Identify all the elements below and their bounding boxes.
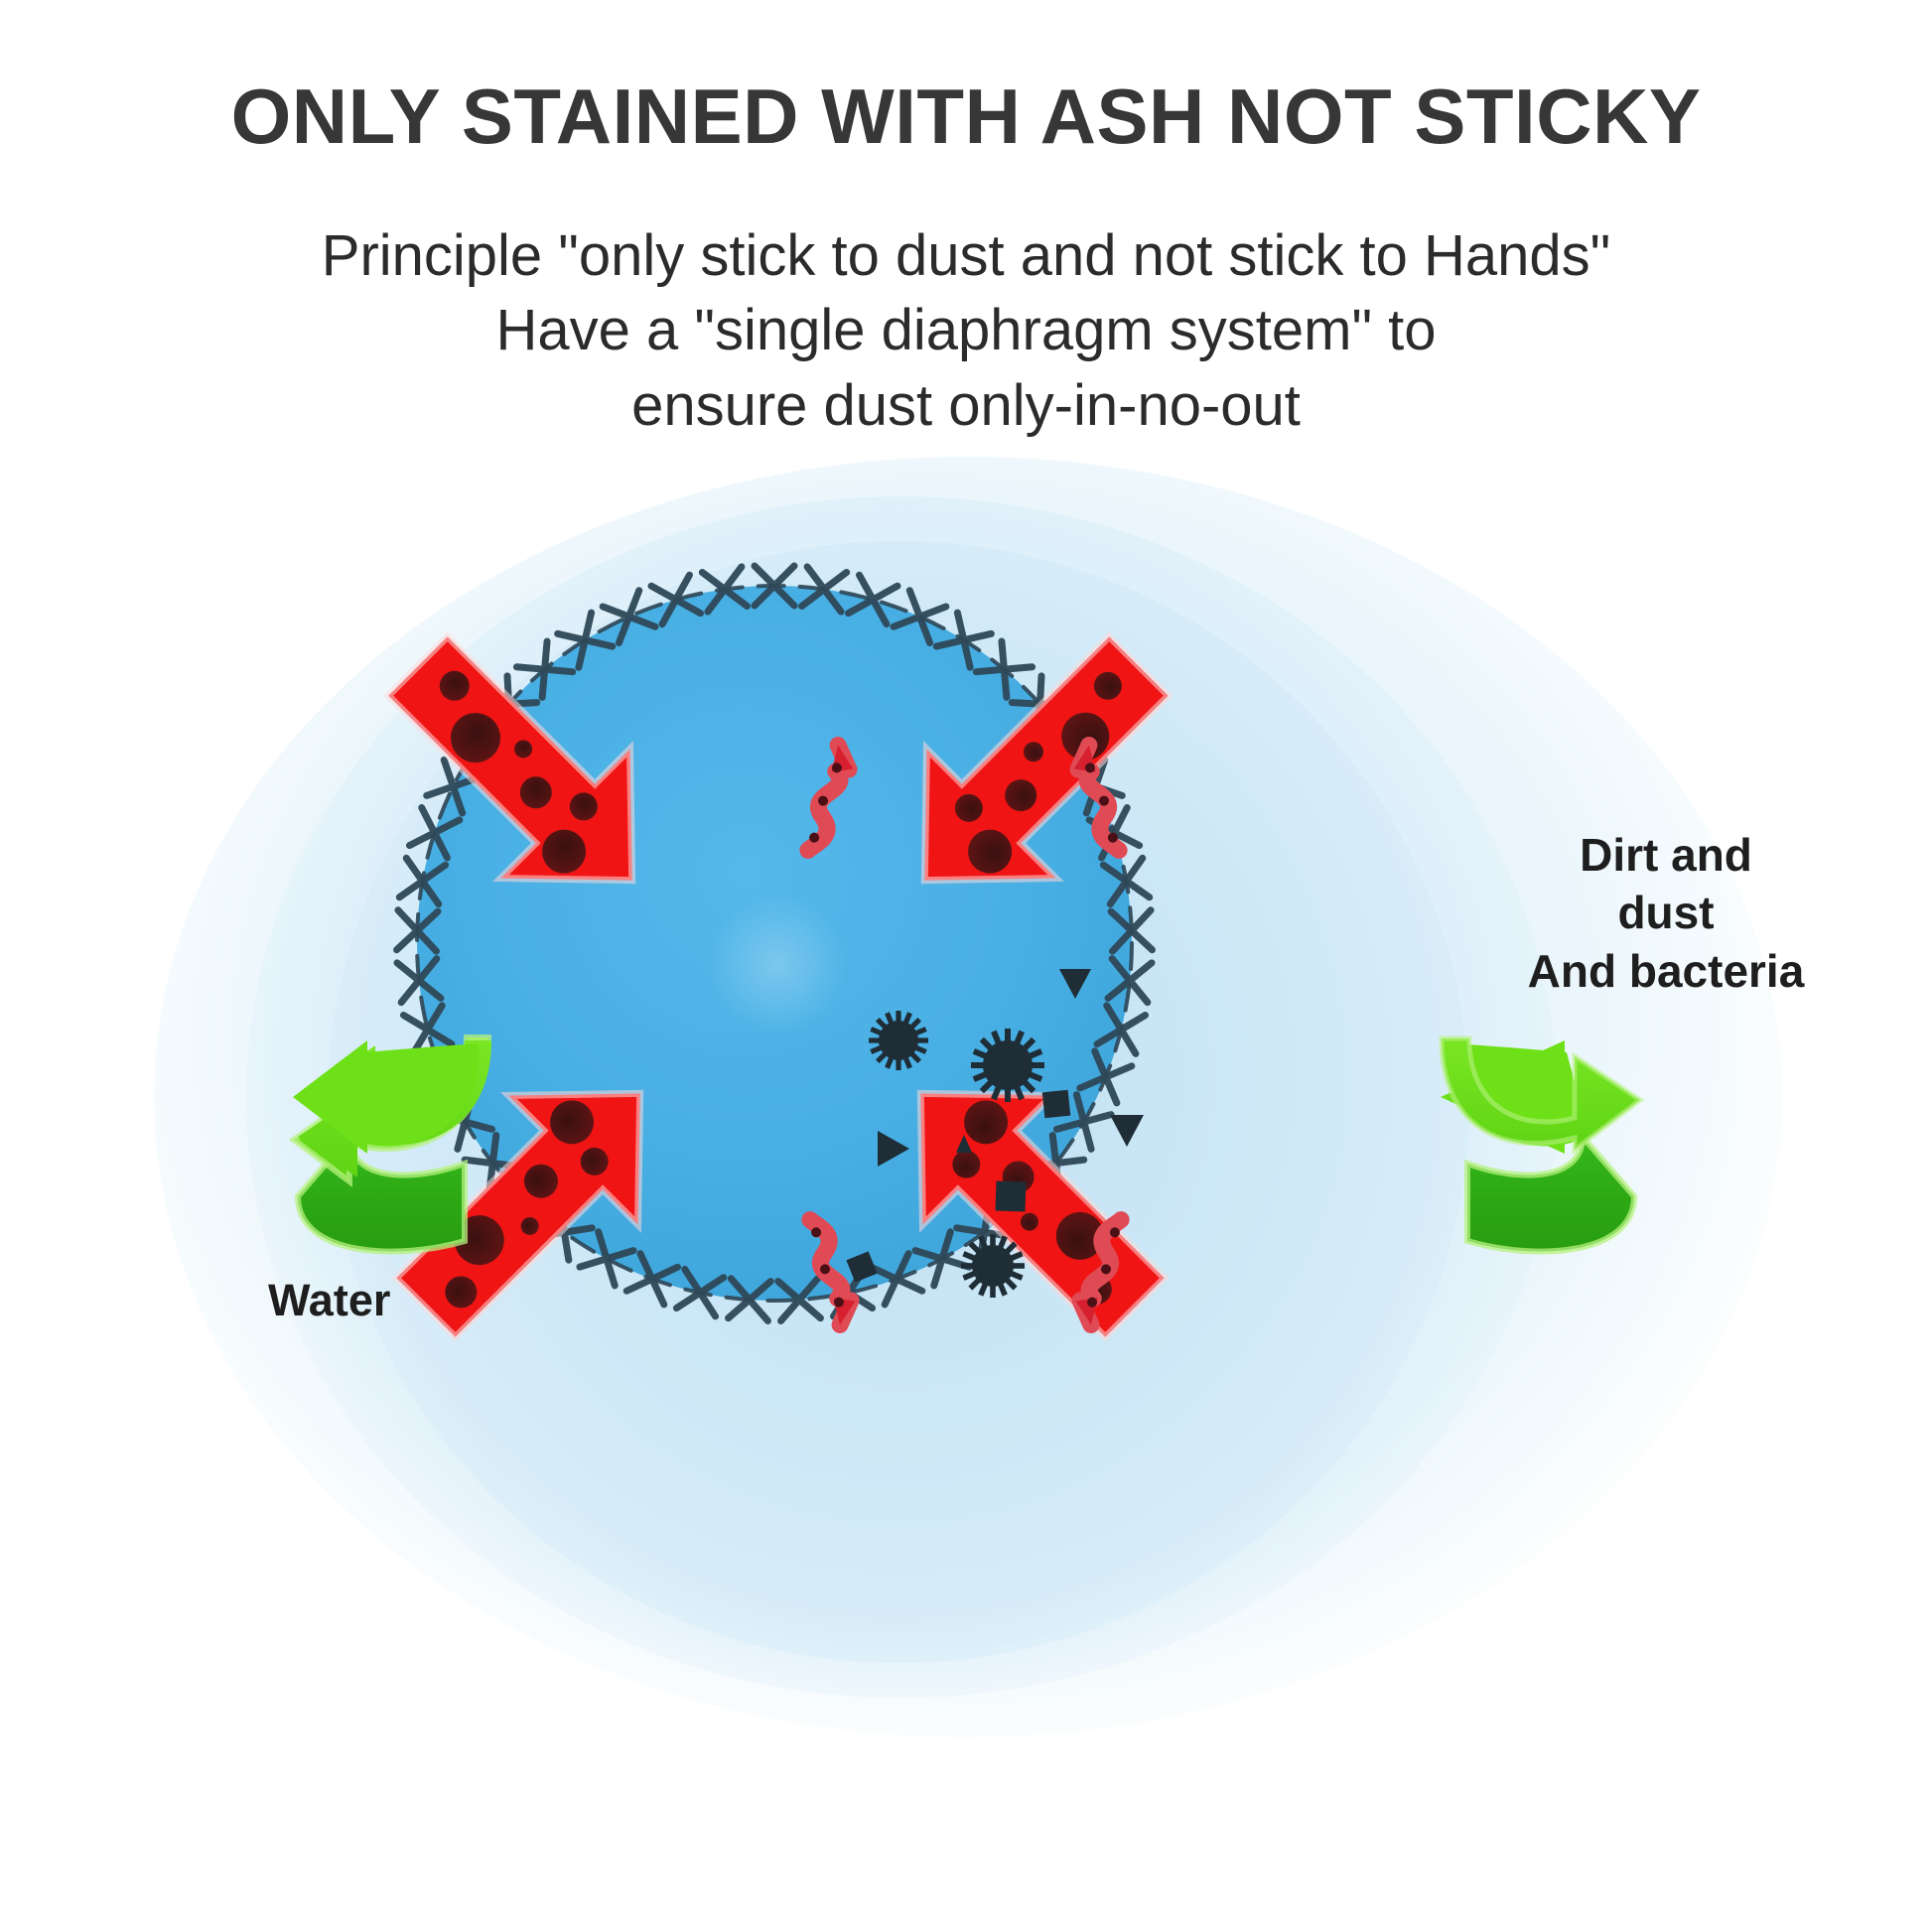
dirt-label-line-1: Dirt and <box>1457 826 1874 884</box>
membrane-inner-glow <box>619 799 936 1117</box>
text-block: ONLY STAINED WITH ASH NOT STICKY Princip… <box>0 0 1932 443</box>
dirt-label-line-2: dust <box>1457 884 1874 941</box>
infographic-canvas: ONLY STAINED WITH ASH NOT STICKY Princip… <box>0 0 1932 1932</box>
membrane-diagram <box>412 581 1137 1306</box>
dirt-and-dust-label: Dirt and dust And bacteria <box>1457 826 1874 1000</box>
subtitle-line-3: ensure dust only-in-no-out <box>0 368 1932 443</box>
subtitle-line-2: Have a "single diaphragm system" to <box>0 293 1932 367</box>
page-title: ONLY STAINED WITH ASH NOT STICKY <box>0 0 1932 155</box>
subtitle-block: Principle "only stick to dust and not st… <box>0 155 1932 443</box>
dirt-label-line-3: And bacteria <box>1457 942 1874 1000</box>
water-label: Water <box>268 1274 566 1327</box>
subtitle-line-1: Principle "only stick to dust and not st… <box>0 218 1932 293</box>
